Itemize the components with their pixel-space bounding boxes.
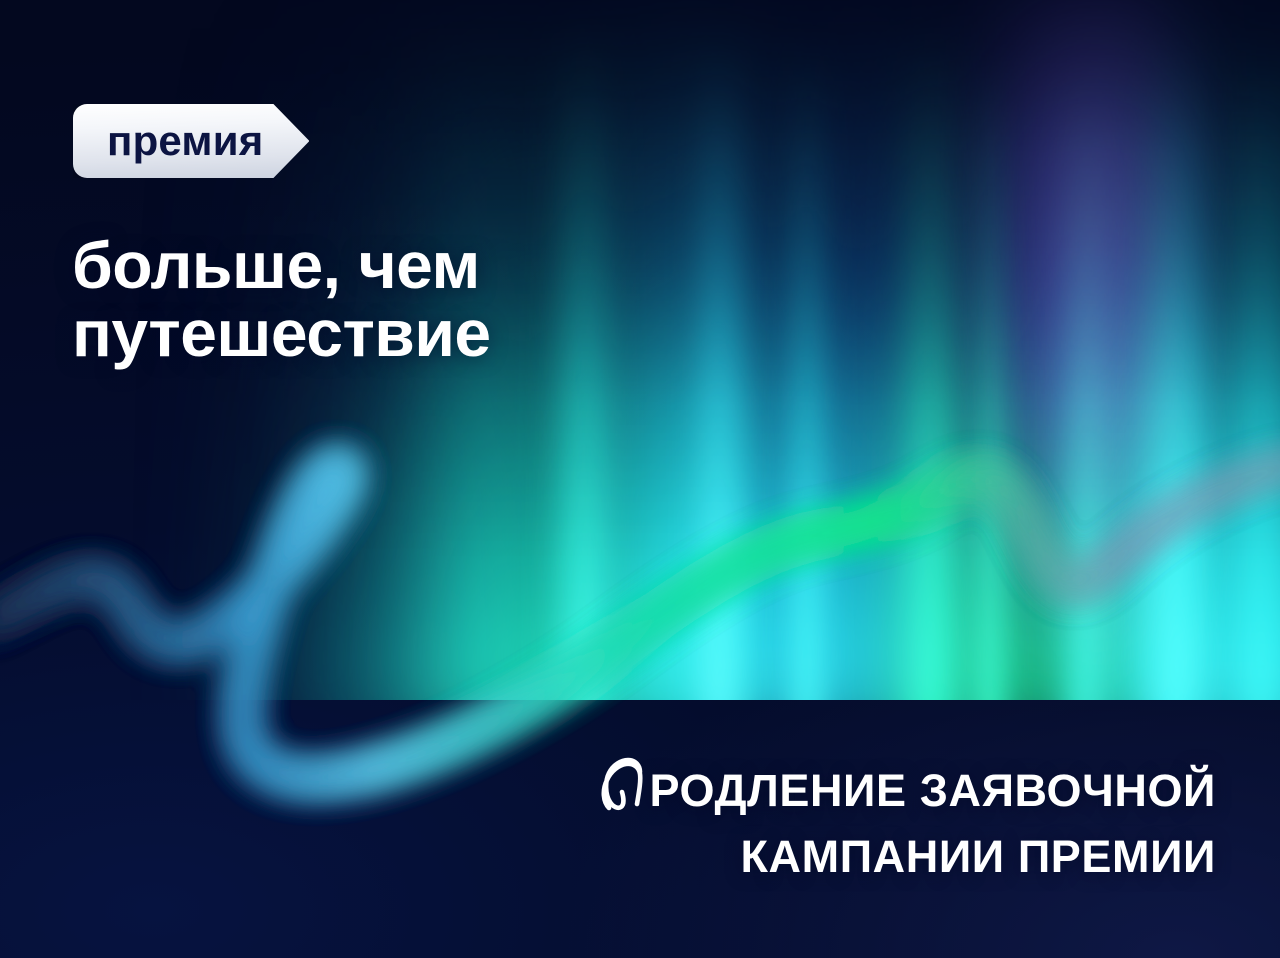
campaign-announcement-line1-text: РОДЛЕНИЕ ЗАЯВОЧНОЙ bbox=[649, 765, 1216, 816]
campaign-announcement: РОДЛЕНИЕ ЗАЯВОЧНОЙ КАМПАНИИ ПРЕМИИ bbox=[456, 752, 1216, 888]
page-title: больше, чем путешествие bbox=[72, 232, 491, 367]
premiya-badge[interactable]: премия bbox=[73, 104, 309, 178]
script-initial-letter bbox=[599, 752, 651, 827]
campaign-announcement-line2: КАМПАНИИ ПРЕМИИ bbox=[456, 827, 1216, 887]
premiya-badge-label: премия bbox=[107, 117, 263, 165]
campaign-announcement-line1: РОДЛЕНИЕ ЗАЯВОЧНОЙ bbox=[456, 752, 1216, 827]
banner-canvas: премия больше, чем путешествие РОДЛЕНИЕ … bbox=[0, 0, 1280, 958]
